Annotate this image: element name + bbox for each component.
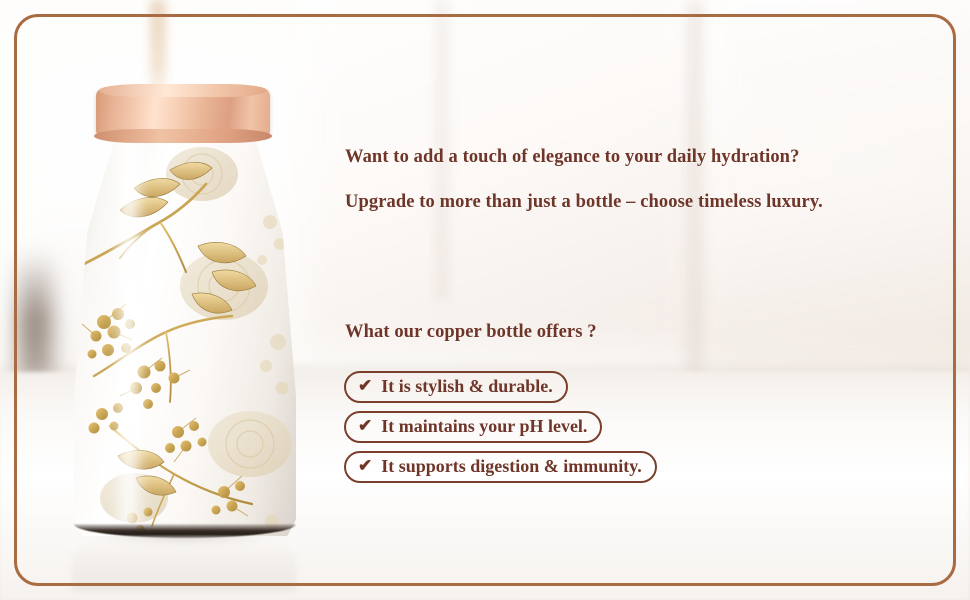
headline-question: Want to add a touch of elegance to your …: [345, 146, 955, 170]
benefit-item-stylish: ✔ It is stylish & durable.: [344, 371, 568, 403]
benefits-checklist: ✔ It is stylish & durable. ✔ It maintain…: [344, 371, 657, 483]
headline-upgrade: Upgrade to more than just a bottle – cho…: [345, 190, 905, 214]
product-bottle-image: [0, 0, 380, 600]
marketing-copy: Want to add a touch of elegance to your …: [345, 146, 955, 214]
bottle-body: [74, 126, 296, 536]
benefit-label: It supports digestion & immunity.: [381, 456, 642, 477]
check-icon: ✔: [358, 457, 372, 474]
bottle-highlight: [110, 126, 148, 536]
benefit-label: It is stylish & durable.: [381, 376, 553, 397]
check-icon: ✔: [358, 417, 372, 434]
benefit-label: It maintains your pH level.: [381, 416, 587, 437]
offers-subheading: What our copper bottle offers ?: [345, 322, 597, 343]
gold-floral-pattern-icon: [74, 126, 296, 536]
lid-bottom-ring: [94, 129, 272, 143]
bottle-reflection: [72, 534, 296, 592]
benefit-item-ph-level: ✔ It maintains your pH level.: [344, 411, 602, 443]
check-icon: ✔: [358, 377, 372, 394]
benefit-item-digestion: ✔ It supports digestion & immunity.: [344, 451, 657, 483]
product-banner: Want to add a touch of elegance to your …: [0, 0, 970, 600]
lid-top-surface: [99, 84, 267, 97]
bottle-lid: [96, 88, 270, 136]
